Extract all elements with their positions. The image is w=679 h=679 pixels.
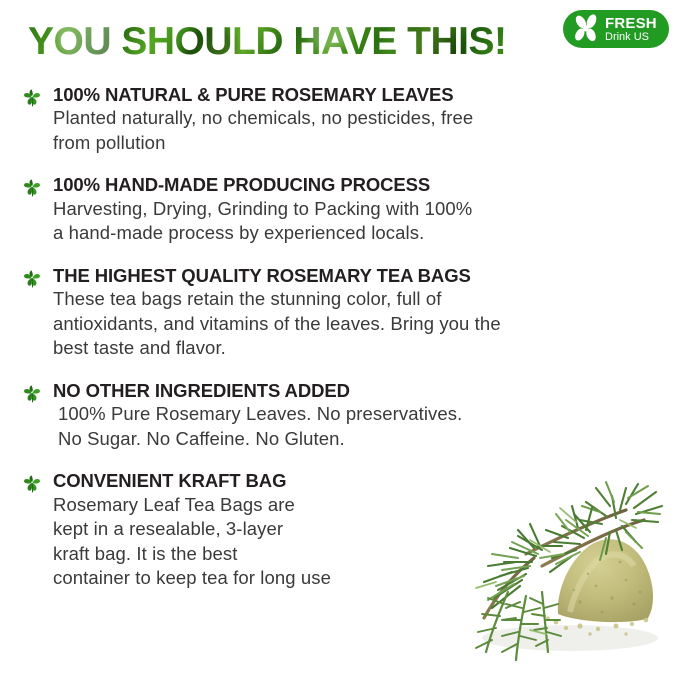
feature-item-no-other-ingredients: NO OTHER INGREDIENTS ADDED 100% Pure Ros… bbox=[22, 380, 662, 451]
clover-icon bbox=[22, 268, 42, 288]
feature-title: THE HIGHEST QUALITY ROSEMARY TEA BAGS bbox=[53, 265, 662, 286]
feature-body: Rosemary Leaf Tea Bags are kept in a res… bbox=[53, 493, 445, 591]
clover-icon bbox=[22, 473, 42, 493]
brand-tagline: Drink US bbox=[605, 32, 657, 43]
feature-body: Harvesting, Drying, Grinding to Packing … bbox=[53, 197, 662, 246]
feature-title: NO OTHER INGREDIENTS ADDED bbox=[53, 380, 662, 401]
rosemary-product-photo bbox=[430, 462, 679, 679]
leaf-cluster-icon bbox=[569, 13, 603, 45]
feature-body: Planted naturally, no chemicals, no pest… bbox=[53, 106, 662, 155]
feature-item-natural-pure: 100% NATURAL & PURE ROSEMARY LEAVES Plan… bbox=[22, 84, 662, 155]
rosemary-illustration bbox=[430, 462, 679, 679]
brand-badge: FRESH Drink US bbox=[563, 10, 669, 48]
feature-title: 100% NATURAL & PURE ROSEMARY LEAVES bbox=[53, 84, 662, 105]
feature-body: These tea bags retain the stunning color… bbox=[53, 287, 662, 361]
feature-item-handmade-process: 100% HAND-MADE PRODUCING PROCESS Harvest… bbox=[22, 174, 662, 245]
clover-icon bbox=[22, 383, 42, 403]
clover-icon bbox=[22, 177, 42, 197]
feature-title: 100% HAND-MADE PRODUCING PROCESS bbox=[53, 174, 662, 195]
brand-text-block: FRESH Drink US bbox=[605, 16, 657, 43]
feature-body: 100% Pure Rosemary Leaves. No preservati… bbox=[53, 402, 662, 451]
product-feature-infographic: FRESH Drink US YOU SHOULD HAVE THIS! 100… bbox=[0, 0, 679, 679]
page-title: YOU SHOULD HAVE THIS! bbox=[28, 22, 506, 61]
feature-item-highest-quality: THE HIGHEST QUALITY ROSEMARY TEA BAGS Th… bbox=[22, 265, 662, 361]
clover-icon bbox=[22, 87, 42, 107]
brand-name: FRESH bbox=[605, 16, 657, 31]
